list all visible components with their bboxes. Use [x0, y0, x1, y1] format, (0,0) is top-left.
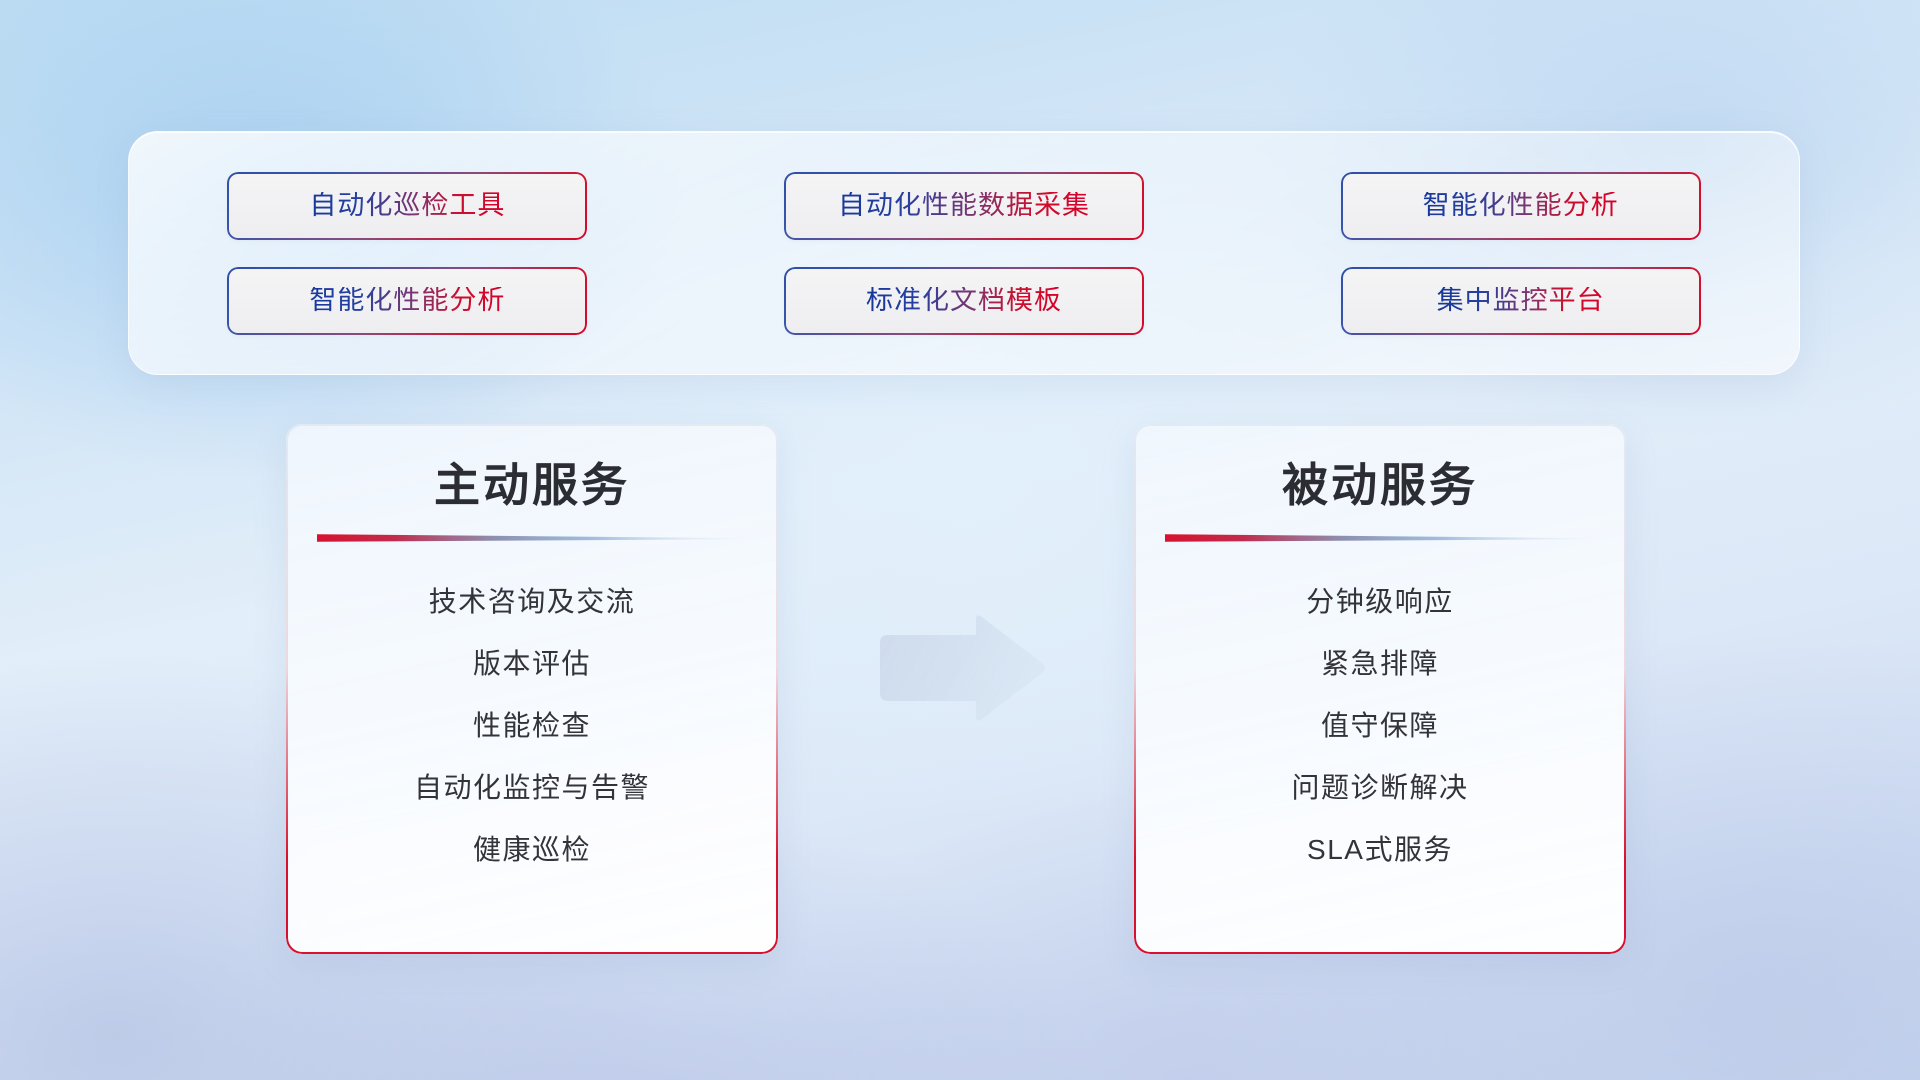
capability-panel: 自动化巡检工具 自动化性能数据采集 智能化性能分析 智能化性能分析	[128, 131, 1800, 375]
capability-pill-label: 标准化文档模板	[866, 287, 1062, 314]
card-divider-icon	[1165, 532, 1595, 544]
capability-slot: 智能化性能分析	[229, 269, 585, 333]
list-item: 自动化监控与告警	[414, 757, 650, 819]
capability-pill-label: 智能化性能分析	[309, 287, 505, 314]
service-list-proactive: 技术咨询及交流 版本评估 性能检查 自动化监控与告警 健康巡检	[286, 571, 778, 881]
capability-pill-label: 集中监控平台	[1437, 287, 1605, 314]
capability-pill-intelligent-performance-analysis-2[interactable]: 智能化性能分析	[229, 269, 585, 333]
capability-pill-label: 智能化性能分析	[1423, 192, 1619, 219]
service-card-reactive: 被动服务 分钟级响应 紧急排障 值守保障	[1134, 424, 1626, 954]
diagram-canvas: 自动化巡检工具 自动化性能数据采集 智能化性能分析 智能化性能分析	[0, 0, 1920, 1080]
capability-row-1: 自动化巡检工具 自动化性能数据采集 智能化性能分析	[129, 174, 1799, 238]
capability-pill-intelligent-performance-analysis[interactable]: 智能化性能分析	[1343, 174, 1699, 238]
list-item: 技术咨询及交流	[429, 571, 636, 633]
card-title: 被动服务	[1134, 460, 1626, 511]
card-divider-icon	[317, 532, 747, 544]
list-item: 问题诊断解决	[1291, 757, 1468, 819]
capability-slot: 标准化文档模板	[786, 269, 1142, 333]
list-item: 紧急排障	[1321, 633, 1439, 695]
flow-arrow-right-icon	[872, 613, 1047, 723]
list-item: 健康巡检	[473, 819, 591, 881]
capability-slot: 智能化性能分析	[1343, 174, 1699, 238]
capability-pill-automated-performance-data-collection[interactable]: 自动化性能数据采集	[786, 174, 1142, 238]
capability-pill-label: 自动化巡检工具	[309, 192, 505, 219]
service-card-proactive: 主动服务 技术咨询及交流 版本评估 性能检查	[286, 424, 778, 954]
capability-pill-centralized-monitoring-platform[interactable]: 集中监控平台	[1343, 269, 1699, 333]
capability-pill-standardized-doc-template[interactable]: 标准化文档模板	[786, 269, 1142, 333]
list-item: 版本评估	[473, 633, 591, 695]
capability-slot: 自动化巡检工具	[229, 174, 585, 238]
card-title: 主动服务	[286, 460, 778, 511]
capability-slot: 自动化性能数据采集	[786, 174, 1142, 238]
list-item: 性能检查	[473, 695, 591, 757]
capability-slot: 集中监控平台	[1343, 269, 1699, 333]
service-list-reactive: 分钟级响应 紧急排障 值守保障 问题诊断解决 SLA式服务	[1134, 571, 1626, 881]
capability-pill-label: 自动化性能数据采集	[838, 192, 1090, 219]
capability-row-2: 智能化性能分析 标准化文档模板 集中监控平台	[129, 269, 1799, 333]
list-item: SLA式服务	[1307, 819, 1453, 881]
list-item: 分钟级响应	[1306, 571, 1454, 633]
list-item: 值守保障	[1321, 695, 1439, 757]
capability-pill-automated-inspection-tool[interactable]: 自动化巡检工具	[229, 174, 585, 238]
